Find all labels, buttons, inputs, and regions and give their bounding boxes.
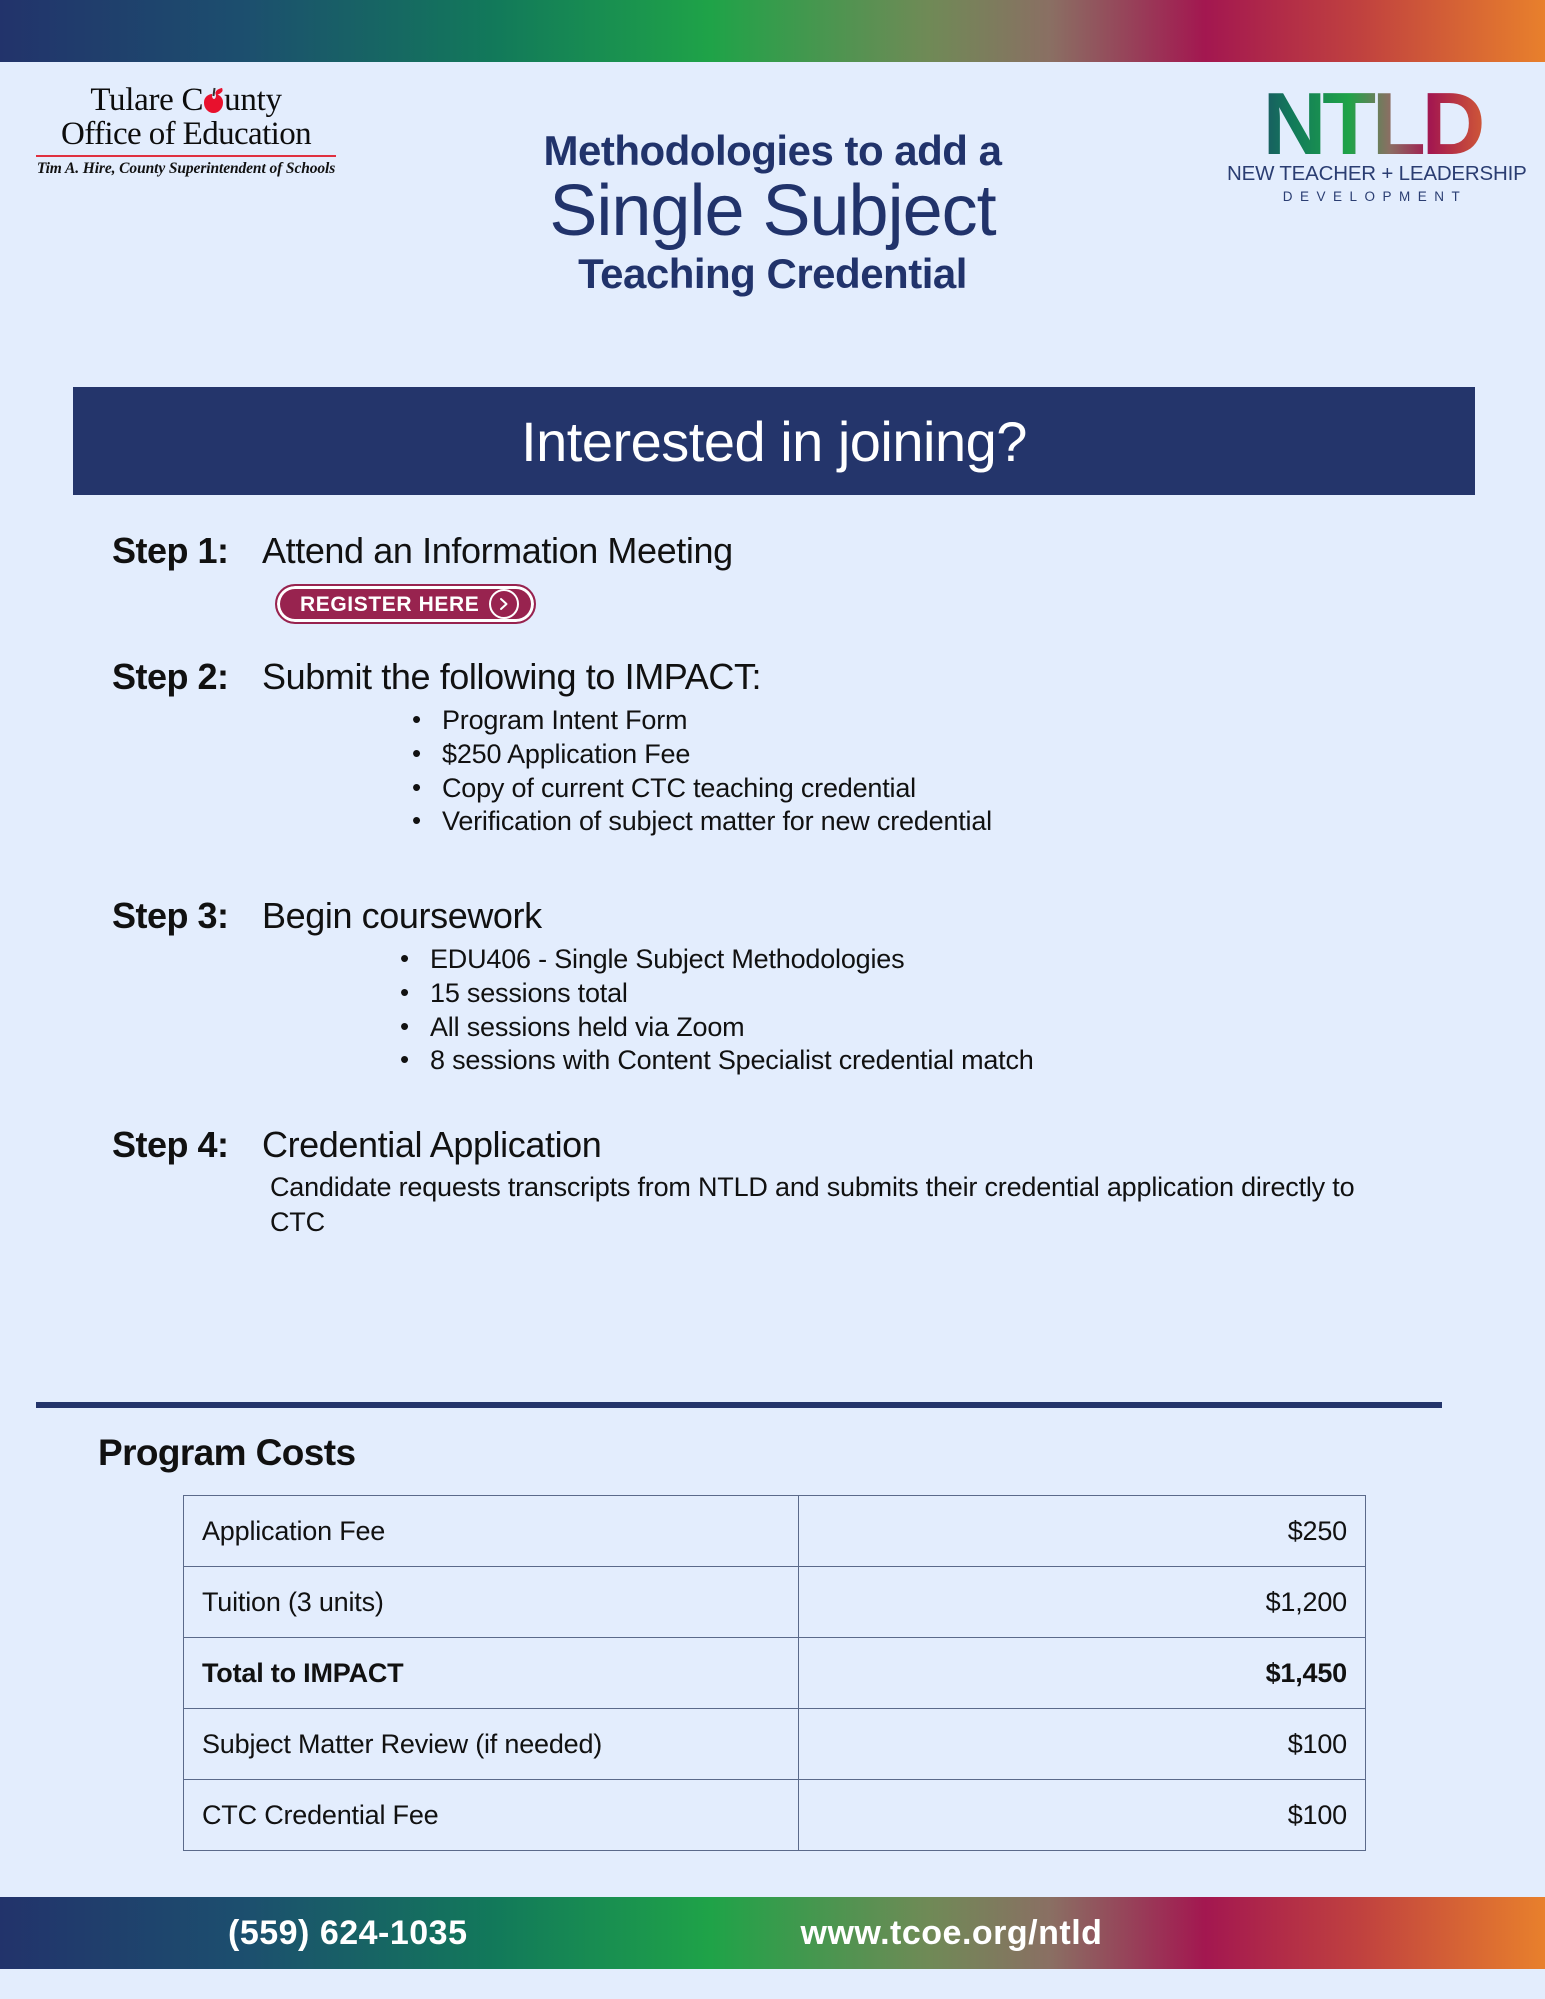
cost-label: Subject Matter Review (if needed) bbox=[184, 1709, 799, 1780]
step-2-bullets: Program Intent Form $250 Application Fee… bbox=[112, 704, 1545, 839]
footer-gradient-bar: (559) 624-1035 www.tcoe.org/ntld bbox=[0, 1897, 1545, 1969]
list-item: 8 sessions with Content Specialist crede… bbox=[400, 1044, 1545, 1078]
register-button-wrapper: REGISTER HERE bbox=[275, 584, 1545, 624]
table-row: CTC Credential Fee $100 bbox=[184, 1780, 1366, 1851]
step-4-label: Step 4: bbox=[112, 1124, 262, 1166]
page-title-line2: Single Subject bbox=[0, 175, 1545, 248]
step-2: Step 2: Submit the following to IMPACT: … bbox=[0, 656, 1545, 839]
step-2-title: Submit the following to IMPACT: bbox=[262, 656, 761, 698]
step-3-bullets: EDU406 - Single Subject Methodologies 15… bbox=[112, 943, 1545, 1078]
cost-value: $100 bbox=[799, 1709, 1366, 1780]
tcoe-logo-line1-post: unty bbox=[224, 82, 281, 118]
cost-value: $100 bbox=[799, 1780, 1366, 1851]
step-1-label: Step 1: bbox=[112, 530, 262, 572]
list-item: Verification of subject matter for new c… bbox=[412, 805, 1545, 839]
page-title: Methodologies to add a Single Subject Te… bbox=[0, 128, 1545, 297]
step-2-label: Step 2: bbox=[112, 656, 262, 698]
table-row: Subject Matter Review (if needed) $100 bbox=[184, 1709, 1366, 1780]
list-item: EDU406 - Single Subject Methodologies bbox=[400, 943, 1545, 977]
table-row-total: Total to IMPACT $1,450 bbox=[184, 1638, 1366, 1709]
step-1-heading: Step 1: Attend an Information Meeting bbox=[112, 530, 1545, 572]
step-4-title: Credential Application bbox=[262, 1124, 601, 1166]
cost-value: $1,450 bbox=[799, 1638, 1366, 1709]
cost-label: Application Fee bbox=[184, 1496, 799, 1567]
step-4-note: Candidate requests transcripts from NTLD… bbox=[112, 1170, 1370, 1239]
step-3: Step 3: Begin coursework EDU406 - Single… bbox=[0, 895, 1545, 1078]
step-3-heading: Step 3: Begin coursework bbox=[112, 895, 1545, 937]
cost-value: $1,200 bbox=[799, 1567, 1366, 1638]
program-costs-heading: Program Costs bbox=[98, 1432, 355, 1474]
table-row: Application Fee $250 bbox=[184, 1496, 1366, 1567]
list-item: Program Intent Form bbox=[412, 704, 1545, 738]
page-title-line3: Teaching Credential bbox=[0, 251, 1545, 297]
step-3-label: Step 3: bbox=[112, 895, 262, 937]
table-row: Tuition (3 units) $1,200 bbox=[184, 1567, 1366, 1638]
cost-label: Tuition (3 units) bbox=[184, 1567, 799, 1638]
section-divider bbox=[36, 1402, 1442, 1408]
list-item: All sessions held via Zoom bbox=[400, 1011, 1545, 1045]
chevron-right-icon bbox=[489, 589, 519, 619]
footer-phone[interactable]: (559) 624-1035 bbox=[228, 1914, 468, 1953]
register-here-label: REGISTER HERE bbox=[284, 594, 489, 615]
tcoe-logo-line1-pre: Tulare C bbox=[90, 82, 203, 118]
list-item: 15 sessions total bbox=[400, 977, 1545, 1011]
page-title-line1: Methodologies to add a bbox=[0, 128, 1545, 173]
apple-icon bbox=[203, 88, 224, 113]
steps-section: Step 1: Attend an Information Meeting RE… bbox=[0, 530, 1545, 1239]
footer-website-link[interactable]: www.tcoe.org/ntld bbox=[801, 1914, 1103, 1953]
register-here-button[interactable]: REGISTER HERE bbox=[275, 584, 536, 624]
step-4: Step 4: Credential Application Candidate… bbox=[0, 1124, 1545, 1239]
cost-value: $250 bbox=[799, 1496, 1366, 1567]
cost-label: CTC Credential Fee bbox=[184, 1780, 799, 1851]
list-item: Copy of current CTC teaching credential bbox=[412, 772, 1545, 806]
program-costs-table: Application Fee $250 Tuition (3 units) $… bbox=[183, 1495, 1366, 1851]
tcoe-logo-line1: Tulare Cunty bbox=[36, 84, 336, 118]
list-item: $250 Application Fee bbox=[412, 738, 1545, 772]
step-4-heading: Step 4: Credential Application bbox=[112, 1124, 1545, 1166]
cost-label: Total to IMPACT bbox=[184, 1638, 799, 1709]
step-3-title: Begin coursework bbox=[262, 895, 542, 937]
step-1: Step 1: Attend an Information Meeting RE… bbox=[0, 530, 1545, 624]
interested-banner-label: Interested in joining? bbox=[521, 409, 1027, 474]
interested-banner: Interested in joining? bbox=[73, 387, 1475, 495]
top-gradient-bar bbox=[0, 0, 1545, 62]
step-2-heading: Step 2: Submit the following to IMPACT: bbox=[112, 656, 1545, 698]
page-header: Tulare Cunty Office of Education Tim A. … bbox=[0, 62, 1545, 342]
step-1-title: Attend an Information Meeting bbox=[262, 530, 733, 572]
